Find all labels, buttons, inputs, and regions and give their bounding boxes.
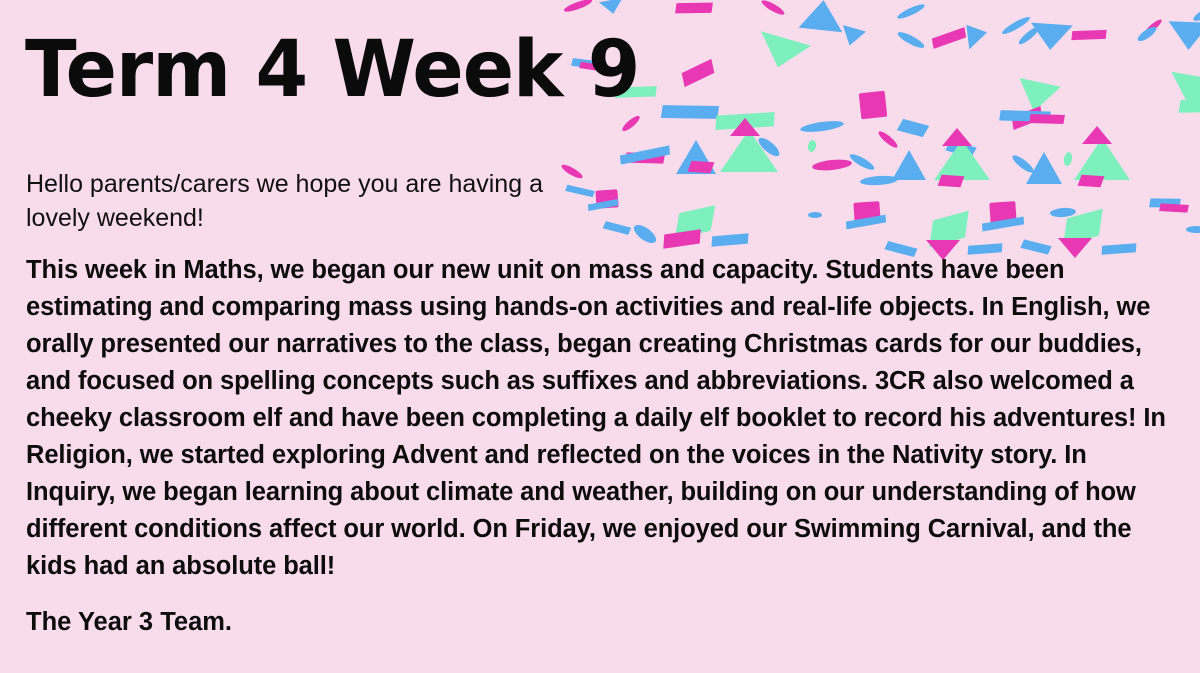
confetti-piece (896, 2, 926, 21)
confetti-piece (945, 135, 977, 164)
confetti-piece (1186, 226, 1200, 233)
confetti-piece (730, 118, 760, 136)
confetti-piece (860, 175, 899, 187)
confetti-piece (848, 152, 876, 173)
confetti-piece (853, 201, 880, 223)
confetti-piece (807, 139, 817, 152)
confetti-piece (931, 27, 967, 49)
confetti-piece (812, 158, 853, 172)
confetti-piece (929, 206, 969, 252)
confetti-piece (982, 217, 1025, 232)
page-title: Term 4 Week 9 (25, 22, 639, 118)
confetti-piece (753, 31, 811, 74)
confetti-piece (1074, 138, 1130, 180)
confetti-piece (603, 217, 632, 239)
confetti-piece (808, 212, 822, 218)
confetti-piece (619, 145, 670, 164)
confetti-piece (1011, 106, 1043, 130)
confetti-piece (661, 98, 719, 126)
confetti-piece (1013, 78, 1060, 116)
confetti-piece (625, 147, 665, 169)
confetti-piece (799, 0, 846, 32)
confetti-piece (1017, 24, 1041, 46)
confetti-piece (563, 0, 594, 14)
confetti-piece (1143, 18, 1164, 37)
confetti-piece (1063, 204, 1103, 250)
confetti-piece (892, 150, 926, 180)
body-paragraph: This week in Maths, we began our new uni… (26, 252, 1178, 585)
confetti-piece (1078, 169, 1105, 193)
confetti-piece (846, 215, 887, 230)
confetti-piece (595, 189, 618, 208)
confetti-piece (1136, 24, 1159, 43)
confetti-piece (1082, 126, 1112, 144)
confetti-piece (1063, 151, 1073, 166)
confetti-piece (675, 0, 713, 18)
confetti-piece (631, 222, 659, 247)
confetti-piece (599, 0, 625, 16)
confetti-piece (1029, 109, 1065, 129)
confetti-piece (1159, 199, 1189, 217)
confetti-piece (1179, 93, 1200, 119)
confetti-piece (688, 155, 715, 179)
confetti-piece (877, 129, 900, 150)
confetti-piece (1149, 194, 1181, 213)
confetti-piece (999, 105, 1051, 128)
confetti-piece (1050, 207, 1077, 218)
confetti-piece (934, 140, 990, 180)
confetti-piece (959, 25, 987, 53)
confetti-piece (897, 113, 930, 143)
confetti-piece (859, 91, 888, 120)
confetti-piece (675, 199, 715, 244)
confetti-piece (800, 119, 845, 134)
confetti-piece (715, 108, 774, 134)
confetti-piece (676, 140, 716, 174)
confetti-piece (942, 128, 972, 146)
confetti-piece (720, 130, 778, 172)
confetti-piece (663, 227, 700, 251)
confetti-piece (896, 29, 926, 50)
confetti-piece (588, 199, 619, 211)
confetti-piece (1192, 5, 1200, 24)
confetti-piece (1000, 14, 1031, 36)
signoff-text: The Year 3 Team. (26, 605, 232, 639)
confetti-piece (989, 201, 1016, 225)
confetti-piece (1026, 152, 1062, 184)
confetti-piece (1071, 26, 1106, 43)
confetti-piece (711, 231, 748, 249)
confetti-piece (1165, 72, 1200, 115)
newsletter-page: Term 4 Week 9 Hello parents/carers we ho… (0, 0, 1200, 673)
greeting-text: Hello parents/carers we hope you are hav… (26, 167, 586, 235)
confetti-piece (760, 0, 786, 17)
confetti-piece (1168, 21, 1200, 50)
confetti-piece (838, 25, 866, 49)
confetti-piece (1029, 23, 1073, 52)
confetti-piece (680, 59, 716, 87)
confetti-piece (1010, 153, 1035, 175)
confetti-piece (756, 135, 782, 159)
confetti-piece (938, 169, 965, 193)
